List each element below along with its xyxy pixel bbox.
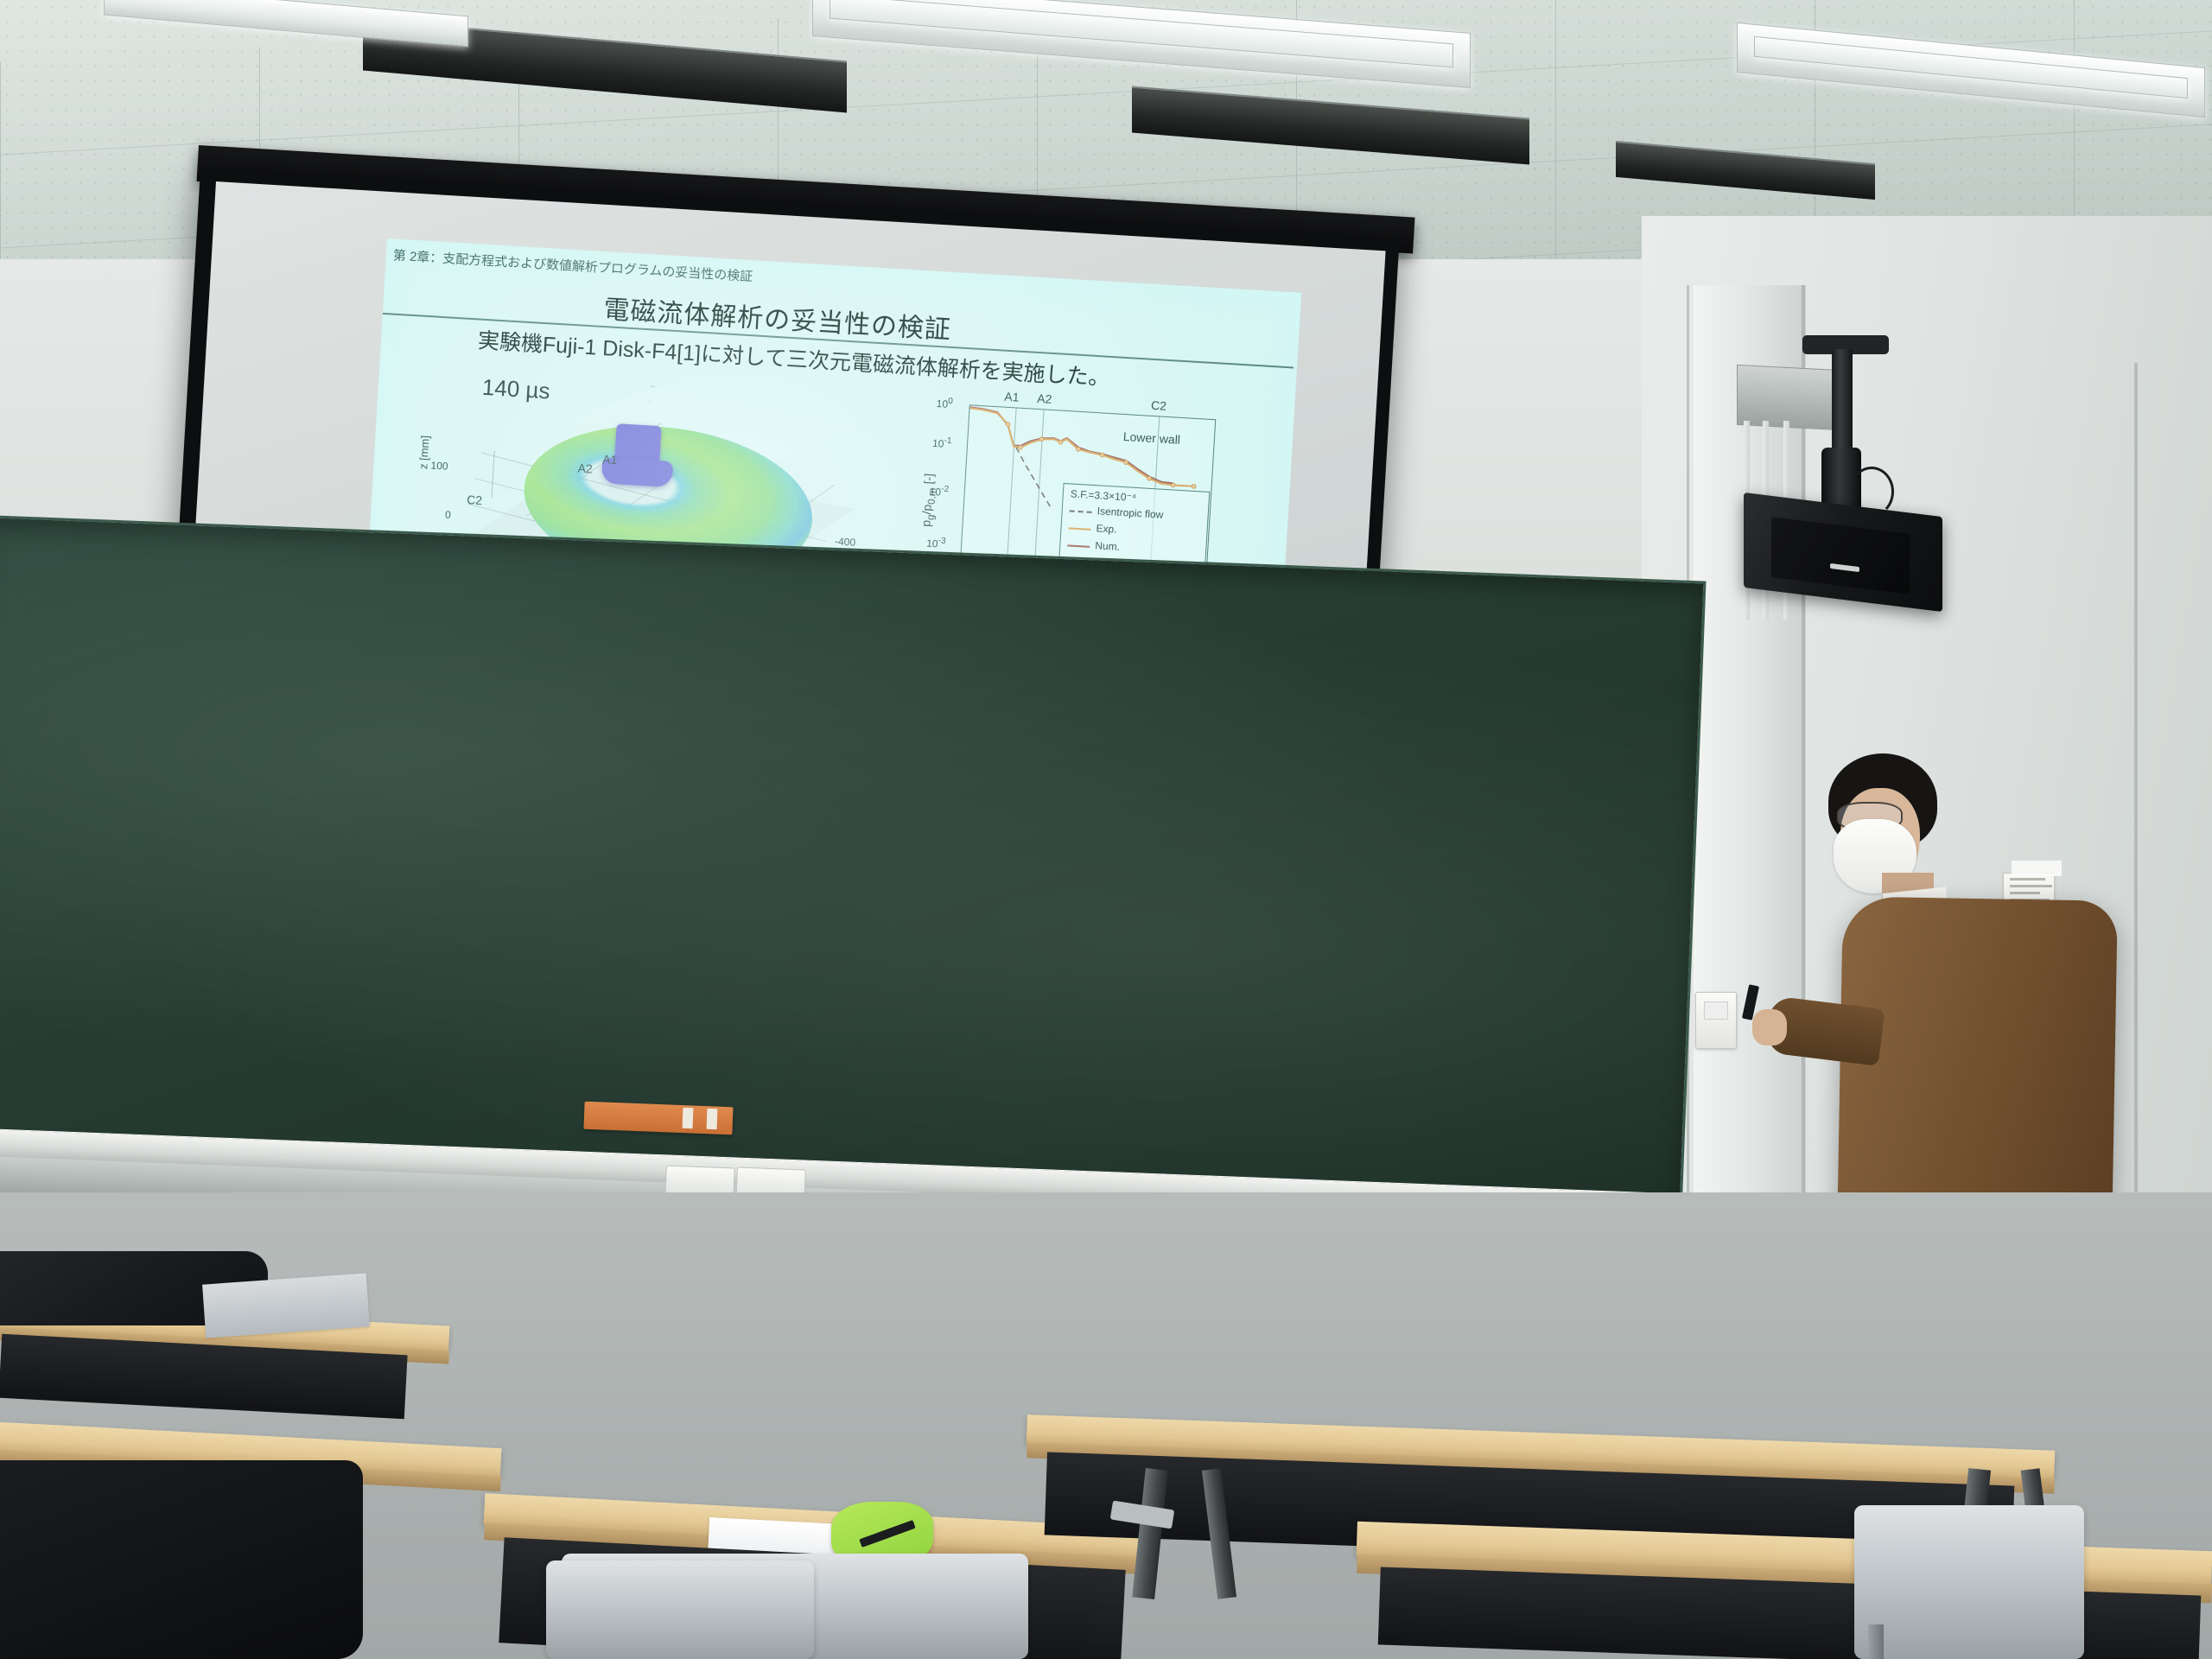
chair-leg xyxy=(1868,1624,1884,1659)
series-exp-markers xyxy=(1002,422,1198,488)
series-isentropic-flow xyxy=(1013,448,1054,507)
probe-marker-C2: C2 xyxy=(467,493,483,507)
chalk-stick[interactable] xyxy=(707,1109,718,1129)
light-switch-panel[interactable] xyxy=(1695,992,1737,1049)
x-tick: -400 xyxy=(835,535,856,548)
z-tick: 100 xyxy=(430,459,448,472)
z-axis-label: z [mm] xyxy=(416,435,431,470)
black-coat[interactable] xyxy=(0,1460,363,1659)
legend-scale-factor: S.F.=3.3×10⁻⁴ xyxy=(1070,487,1136,503)
legend-label-exp: Exp. xyxy=(1096,522,1117,535)
chair[interactable] xyxy=(546,1560,814,1659)
probe-marker-A2: A2 xyxy=(577,461,593,476)
chair[interactable] xyxy=(1854,1505,2084,1659)
chalkboard xyxy=(0,515,1707,1217)
legend-swatch-exp xyxy=(1068,527,1090,531)
notice-tape xyxy=(2012,861,2062,876)
z-tick: 0 xyxy=(445,509,452,521)
laptop[interactable] xyxy=(202,1273,370,1338)
simulation-time-label: 140 µs xyxy=(481,374,550,405)
legend-label-num: Num. xyxy=(1095,539,1120,553)
chalkboard-dust xyxy=(0,518,1703,1214)
presenter-hand xyxy=(1752,1009,1787,1046)
chalk-stick[interactable] xyxy=(683,1108,694,1128)
speaker-mount-pole xyxy=(1832,349,1853,453)
legend-swatch-num xyxy=(1067,544,1090,548)
series-exp xyxy=(966,408,1198,486)
legend-swatch-isentropic xyxy=(1070,510,1092,515)
classroom-scene: 第 2章：支配方程式および数値解析プログラムの妥当性の検証 電磁流体解析の妥当性… xyxy=(0,0,2212,1659)
legend-label-isentropic: Isentropic flow xyxy=(1096,505,1163,521)
probe-marker-A1: A1 xyxy=(602,452,618,467)
series-num xyxy=(966,407,1177,483)
